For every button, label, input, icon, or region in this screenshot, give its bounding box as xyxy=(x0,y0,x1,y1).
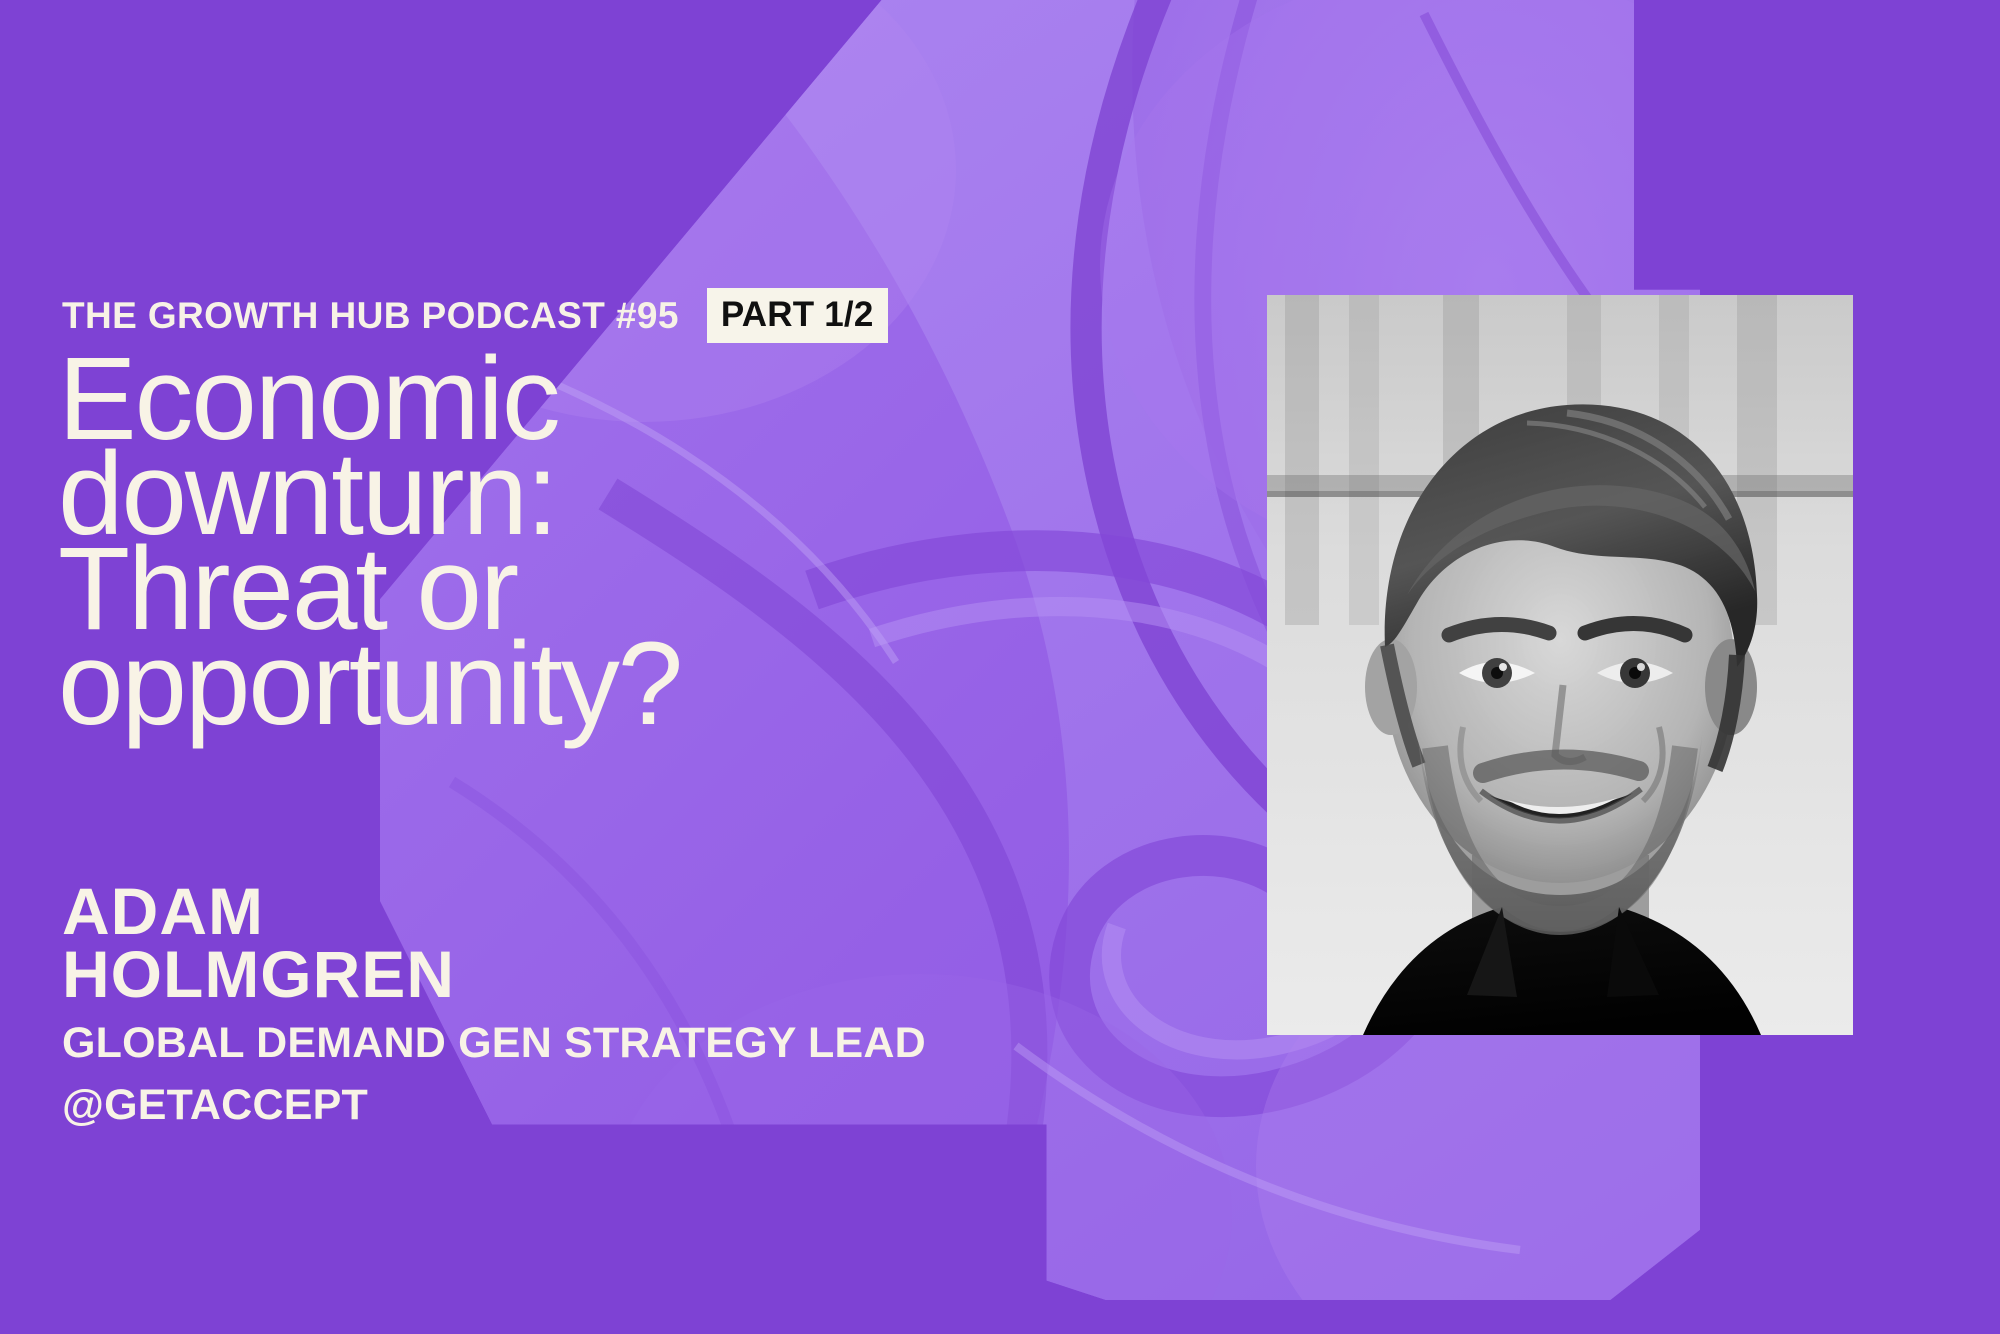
speaker-credit-block: ADAM HOLMGREN GLOBAL DEMAND GEN STRATEGY… xyxy=(62,880,926,1129)
speaker-role: GLOBAL DEMAND GEN STRATEGY LEAD xyxy=(62,1019,926,1067)
speaker-name: ADAM HOLMGREN xyxy=(62,880,926,1007)
podcast-episode-cover: THE GROWTH HUB PODCAST #95 PART 1/2 Econ… xyxy=(0,0,2000,1334)
speaker-portrait-image xyxy=(1267,295,1853,1035)
episode-headline: Economic downturn: Threat or opportunity… xyxy=(58,352,681,732)
part-badge: PART 1/2 xyxy=(707,288,888,343)
speaker-portrait xyxy=(1267,295,1853,1035)
speaker-handle: @GETACCEPT xyxy=(62,1081,926,1129)
podcast-show-title: THE GROWTH HUB PODCAST #95 xyxy=(62,297,679,334)
portrait-illustration xyxy=(1267,295,1853,1035)
